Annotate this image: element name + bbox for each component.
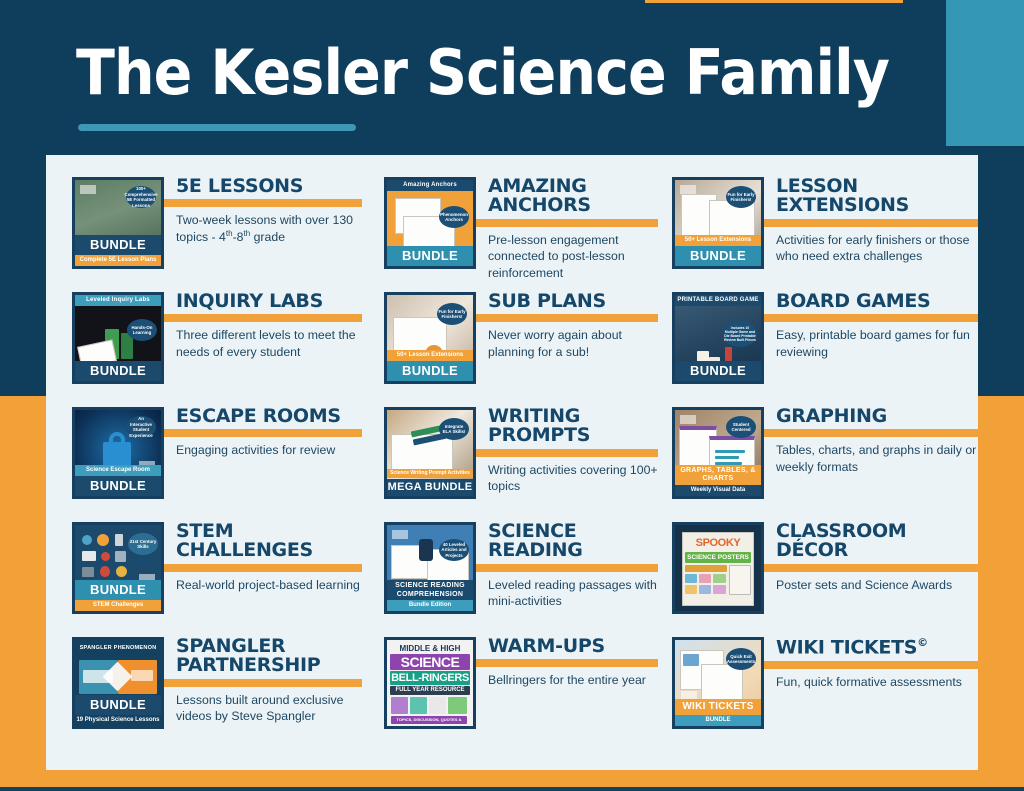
thumbnail-subtitle-bar: 50+ Lesson Extensions: [387, 350, 473, 361]
poster-tile: [729, 565, 751, 595]
product-meta: CLASSROOM DÉCOR Poster sets and Science …: [764, 518, 978, 593]
product-meta: BOARD GAMES Easy, printable board games …: [764, 288, 978, 361]
poster-tile: [685, 585, 697, 594]
product-panel: 100+ Comprehensive 5E Formatted Lessons …: [46, 155, 978, 770]
product-thumbnail-inquiry-labs: Leveled Inquiry Labs Hands-On Learning B…: [72, 292, 164, 384]
product-title: 5E LESSONS: [176, 177, 362, 196]
chart-line: [715, 450, 745, 453]
product-description: Lessons built around exclusive videos by…: [176, 692, 362, 725]
thumbnail-subtitle-bar: Science Escape Room: [75, 465, 161, 476]
thumbnail-top-label: SPANGLER PHENOMENON: [75, 640, 161, 653]
thumbnail-bundle-label: BUNDLE: [75, 695, 161, 715]
product-thumbnail-amazing-anchors: Amazing Anchors Phenomenon Anchors BUNDL…: [384, 177, 476, 269]
product-card-inquiry-labs[interactable]: Leveled Inquiry Labs Hands-On Learning B…: [46, 288, 362, 403]
product-description: Writing activities covering 100+ topics: [488, 462, 658, 495]
thumbnail-subtitle-bar: 50+ Lesson Extensions: [675, 235, 761, 246]
product-card-science-reading[interactable]: 40 Leveled Articles and Projects SCIENCE…: [362, 518, 658, 633]
title-rule: [764, 661, 978, 669]
product-meta: AMAZING ANCHORS Pre-lesson engagement co…: [476, 173, 658, 282]
product-title: STEM CHALLENGES: [176, 522, 362, 561]
kesler-logo-icon: [680, 415, 696, 424]
thumbnail-bundle-label: BUNDLE: [387, 361, 473, 381]
product-description: Three different levels to meet the needs…: [176, 327, 362, 360]
product-thumbnail-stem-challenges: 21st Century Skills BUNDLE STEM Challeng…: [72, 522, 164, 614]
stem-icon: [97, 534, 109, 546]
poster-tile: [699, 585, 711, 594]
title-rule: [164, 429, 362, 437]
title-rule: [764, 219, 978, 227]
stem-icon: [82, 551, 96, 561]
product-card-escape-rooms[interactable]: An Interactive Student Experience BUNDLE…: [46, 403, 362, 518]
product-description: Leveled reading passages with mini-activ…: [488, 577, 658, 610]
poster-subtitle: SCIENCE POSTERS: [685, 552, 751, 563]
stem-icon: [115, 551, 126, 562]
thumbnail-bundle-label: GRAPHS, TABLES, & CHARTS: [675, 465, 761, 485]
product-meta: ESCAPE ROOMS Engaging activities for rev…: [164, 403, 362, 459]
product-card-writing-prompts[interactable]: Integrate ELA Skills! MEGA BUNDLE Scienc…: [362, 403, 658, 518]
header: The Kesler Science Family: [0, 0, 1024, 155]
thumbnail-subtitle-bar: BUNDLE: [675, 715, 761, 726]
decor-bottom-rule: [0, 787, 1024, 791]
thumbnail-bundle-label: BUNDLE: [675, 361, 761, 381]
product-description: Two-week lessons with over 130 topics - …: [176, 212, 362, 245]
cover-tile: [448, 697, 467, 714]
thumbnail-bundle-label: MEGA BUNDLE: [387, 479, 473, 496]
thumbnail-subtitle-bar: 19 Physical Science Lessons: [75, 715, 161, 726]
product-card-5e-lessons[interactable]: 100+ Comprehensive 5E Formatted Lessons …: [46, 173, 362, 288]
product-grid: 100+ Comprehensive 5E Formatted Lessons …: [46, 155, 978, 770]
spangler-logo-icon: [131, 670, 153, 681]
product-card-classroom-decor[interactable]: SPOOKY SCIENCE POSTERS CLASSROOM DÉCOR P…: [658, 518, 978, 633]
thumbnail-badge: Quick Exit Assessments: [726, 648, 756, 670]
product-title: BOARD GAMES: [776, 292, 978, 311]
thumbnail-badge: Hands-On Learning: [127, 319, 157, 341]
poster-tile: [713, 574, 726, 583]
kesler-logo-icon: [80, 185, 96, 194]
product-description: Easy, printable board games for fun revi…: [776, 327, 978, 360]
thumbnail-badge: 21st Century Skills: [128, 533, 158, 555]
title-rule: [476, 449, 658, 457]
product-description: Real-world project-based learning: [176, 577, 362, 594]
poster-strip: [685, 565, 727, 572]
title-rule: [164, 314, 362, 322]
thumbnail-badge: Includes 10 Multiple Game and Die Board …: [723, 321, 757, 347]
product-meta: INQUIRY LABS Three different levels to m…: [164, 288, 362, 361]
product-description: Bellringers for the entire year: [488, 672, 658, 689]
product-card-graphing[interactable]: Student Centered GRAPHS, TABLES, & CHART…: [658, 403, 978, 518]
thumbnail-subtitle-bar: Complete 5E Lesson Plans: [75, 255, 161, 266]
product-card-sub-plans[interactable]: Fun for Early Finishers! BUNDLE 50+ Less…: [362, 288, 658, 403]
thumbnail-subtitle-bar: STEM Challenges: [75, 600, 161, 611]
product-title: AMAZING ANCHORS: [488, 177, 658, 216]
cover-tile: [391, 697, 408, 714]
product-meta: WIKI TICKETS© Fun, quick formative asses…: [764, 633, 978, 690]
thumbnail-badge: Student Centered: [726, 416, 756, 438]
product-title: LESSON EXTENSIONS: [776, 177, 978, 216]
product-card-warm-ups[interactable]: MIDDLE & HIGH SCIENCE BELL-RINGERS FULL …: [362, 633, 658, 748]
thumbnail-top-label: PRINTABLE BOARD GAME: [675, 295, 761, 306]
title-rule: [764, 429, 978, 437]
cover-tile: [410, 697, 427, 714]
product-meta: SPANGLER PARTNERSHIP Lessons built aroun…: [164, 633, 362, 725]
product-card-board-games[interactable]: PRINTABLE BOARD GAME Includes 10 Multipl…: [658, 288, 978, 403]
product-title: GRAPHING: [776, 407, 978, 426]
microscope-shape: [419, 539, 433, 561]
product-description: Poster sets and Science Awards: [776, 577, 978, 594]
product-thumbnail-5e-lessons: 100+ Comprehensive 5E Formatted Lessons …: [72, 177, 164, 269]
product-description: Engaging activities for review: [176, 442, 362, 459]
product-meta: SUB PLANS Never worry again about planni…: [476, 288, 658, 361]
title-rule: [764, 314, 978, 322]
kesler-logo-icon: [392, 530, 408, 539]
thumbnail-badge: Phenomenon Anchors: [439, 206, 469, 228]
thumbnail-top-label: Amazing Anchors: [387, 180, 473, 191]
paper-image: [683, 654, 699, 666]
product-meta: 5E LESSONS Two-week lessons with over 13…: [164, 173, 362, 246]
product-thumbnail-board-games: PRINTABLE BOARD GAME Includes 10 Multipl…: [672, 292, 764, 384]
product-meta: WARM-UPS Bellringers for the entire year: [476, 633, 658, 689]
kesler-logo-icon: [83, 670, 113, 683]
thumbnail-subtitle-bar: Science Writing Prompt Activities: [387, 469, 473, 479]
thumbnail-bundle-label: BUNDLE: [75, 361, 161, 381]
product-thumbnail-wiki-tickets: Quick Exit Assessments WIKI TICKETS BUND…: [672, 637, 764, 729]
thumbnail-badge: An Interactive Student Experience: [126, 416, 156, 438]
thumbnail-bundle-label: BUNDLE: [387, 246, 473, 266]
poster-title: SPOOKY: [685, 535, 751, 551]
cover-title-science: SCIENCE: [390, 654, 470, 670]
title-rule: [476, 314, 658, 322]
product-title: SPANGLER PARTNERSHIP: [176, 637, 362, 676]
poster-tile: [685, 574, 697, 583]
title-rule: [764, 564, 978, 572]
thumbnail-badge: Integrate ELA Skills!: [439, 418, 469, 440]
title-rule: [476, 564, 658, 572]
thumbnail-subtitle-bar: Bundle Edition: [387, 600, 473, 611]
product-title: CLASSROOM DÉCOR: [776, 522, 978, 561]
product-thumbnail-escape-rooms: An Interactive Student Experience BUNDLE…: [72, 407, 164, 499]
product-description: Activities for early finishers or those …: [776, 232, 978, 265]
stem-icon: [116, 566, 127, 577]
title-rule: [164, 679, 362, 687]
thumbnail-badge: 40 Leveled Articles and Projects: [439, 539, 469, 561]
cover-subtitle: FULL YEAR RESOURCE: [390, 686, 470, 695]
thumbnail-bundle-label: BUNDLE: [675, 246, 761, 266]
title-rule: [164, 199, 362, 207]
kesler-logo-icon: [680, 185, 696, 194]
product-card-spangler-partnership[interactable]: SPANGLER PHENOMENON BUNDLE 19 Physical S…: [46, 633, 362, 748]
title-underline: [78, 124, 356, 131]
chart-line: [715, 456, 739, 459]
product-thumbnail-science-reading: 40 Leveled Articles and Projects SCIENCE…: [384, 522, 476, 614]
cover-eyebrow: MIDDLE & HIGH: [390, 643, 470, 654]
thumbnail-bundle-label: SCIENCE READING COMPREHENSION: [387, 580, 473, 602]
lock-shackle-icon: [109, 432, 125, 446]
product-meta: LESSON EXTENSIONS Activities for early f…: [764, 173, 978, 265]
thumbnail-bundle-label: BUNDLE: [75, 235, 161, 255]
product-thumbnail-classroom-decor: SPOOKY SCIENCE POSTERS: [672, 522, 764, 614]
product-card-wiki-tickets[interactable]: Quick Exit Assessments WIKI TICKETS BUND…: [658, 633, 978, 748]
thumbnail-top-label: Leveled Inquiry Labs: [75, 295, 161, 306]
product-description: Tables, charts, and graphs in daily or w…: [776, 442, 978, 475]
product-title: INQUIRY LABS: [176, 292, 362, 311]
product-title: SCIENCE READING: [488, 522, 658, 561]
product-title: ESCAPE ROOMS: [176, 407, 362, 426]
thumbnail-bundle-label: WIKI TICKETS: [675, 699, 761, 715]
title-rule: [164, 564, 362, 572]
product-thumbnail-graphing: Student Centered GRAPHS, TABLES, & CHART…: [672, 407, 764, 499]
cover-footer: TOPICS, DISCUSSION, QUOTES & MORE: [391, 716, 467, 724]
stem-icon: [101, 552, 110, 561]
product-thumbnail-lesson-extensions: Fun for Early Finishers! BUNDLE 50+ Less…: [672, 177, 764, 269]
product-card-amazing-anchors[interactable]: Amazing Anchors Phenomenon Anchors BUNDL…: [362, 173, 658, 288]
stem-icon: [82, 535, 92, 545]
page-title: The Kesler Science Family: [76, 36, 889, 109]
cover-tile: [429, 697, 446, 714]
title-rule: [476, 219, 658, 227]
thumbnail-badge: Fun for Early Finishers!: [437, 303, 467, 325]
stem-icon: [115, 534, 123, 546]
thumbnail-subtitle-bar: Weekly Visual Data: [675, 485, 761, 496]
stem-icon: [82, 567, 94, 577]
thumbnail-bundle-label: BUNDLE: [75, 580, 161, 600]
thumbnail-badge: Fun for Early Finishers!: [726, 186, 756, 208]
poster-tile: [699, 574, 711, 583]
product-description: Fun, quick formative assessments: [776, 674, 978, 691]
title-rule: [476, 659, 658, 667]
product-thumbnail-spangler-partnership: SPANGLER PHENOMENON BUNDLE 19 Physical S…: [72, 637, 164, 729]
product-thumbnail-sub-plans: Fun for Early Finishers! BUNDLE 50+ Less…: [384, 292, 476, 384]
product-meta: STEM CHALLENGES Real-world project-based…: [164, 518, 362, 593]
product-card-stem-challenges[interactable]: 21st Century Skills BUNDLE STEM Challeng…: [46, 518, 362, 633]
product-thumbnail-writing-prompts: Integrate ELA Skills! MEGA BUNDLE Scienc…: [384, 407, 476, 499]
poster-tile: [713, 585, 726, 594]
product-meta: WRITING PROMPTS Writing activities cover…: [476, 403, 658, 495]
cover-title-bellringers: BELL-RINGERS: [390, 671, 470, 685]
copyright-mark: ©: [917, 636, 928, 649]
product-title-text: WIKI TICKETS: [776, 636, 917, 658]
product-title: WIKI TICKETS©: [776, 637, 978, 658]
stem-icon: [100, 566, 110, 577]
product-description: Never worry again about planning for a s…: [488, 327, 658, 360]
product-description: Pre-lesson engagement connected to post-…: [488, 232, 658, 282]
product-meta: GRAPHING Tables, charts, and graphs in d…: [764, 403, 978, 476]
thumbnail-bundle-label: BUNDLE: [75, 476, 161, 496]
game-piece: [725, 347, 732, 361]
product-card-lesson-extensions[interactable]: Fun for Early Finishers! BUNDLE 50+ Less…: [658, 173, 978, 288]
product-thumbnail-warm-ups: MIDDLE & HIGH SCIENCE BELL-RINGERS FULL …: [384, 637, 476, 729]
product-title: SUB PLANS: [488, 292, 658, 311]
product-meta: SCIENCE READING Leveled reading passages…: [476, 518, 658, 610]
product-title: WRITING PROMPTS: [488, 407, 658, 446]
product-title: WARM-UPS: [488, 637, 658, 656]
thumbnail-badge: 100+ Comprehensive 5E Formatted Lessons: [126, 186, 156, 208]
